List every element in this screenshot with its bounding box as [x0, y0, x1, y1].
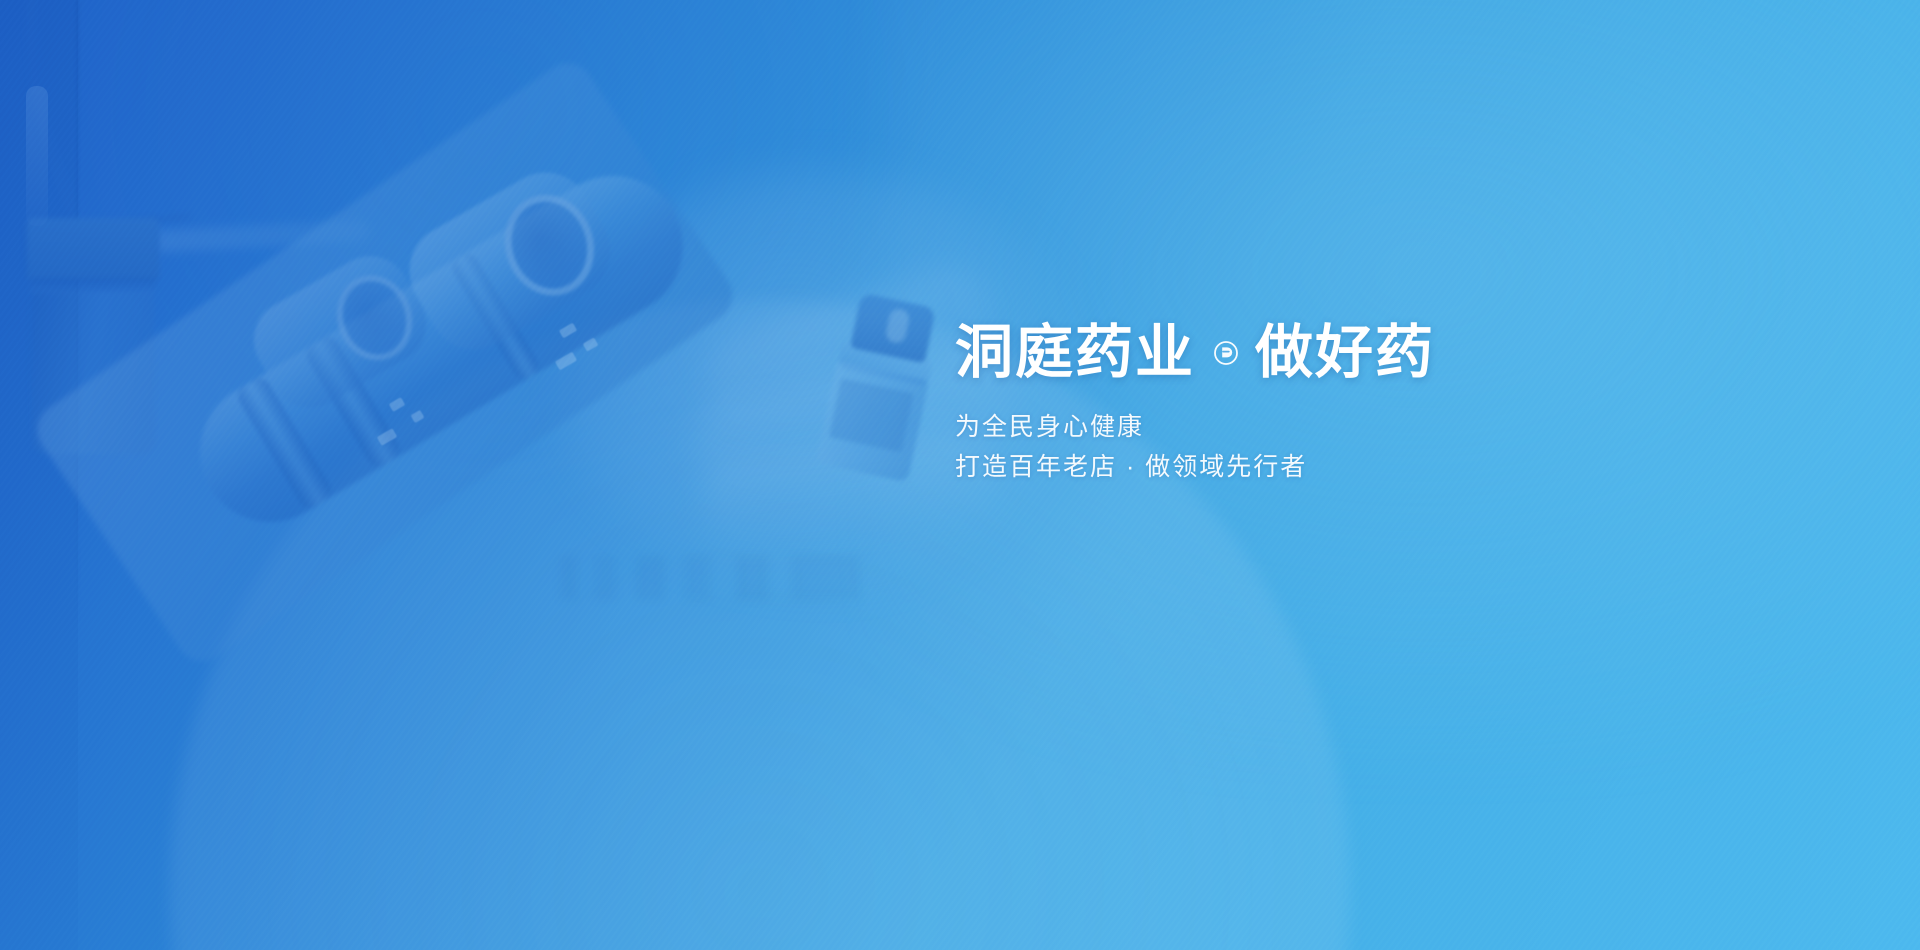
brand-slogan: 做好药: [1255, 322, 1435, 385]
hero-banner: 洞庭药业 做好药 为全民身心健康 打造百年老店 · 做领域先行者: [0, 0, 1920, 950]
hero-copy-block: 洞庭药业 做好药 为全民身心健康 打造百年老店 · 做领域先行者: [955, 322, 1655, 488]
company-name: 洞庭药业: [955, 322, 1195, 385]
hero-subcopy: 为全民身心健康 打造百年老店 · 做领域先行者: [955, 407, 1655, 488]
company-roundel-logo-icon: [1213, 340, 1239, 366]
subcopy-line-1: 为全民身心健康: [955, 407, 1655, 448]
subcopy-line-2: 打造百年老店 · 做领域先行者: [955, 447, 1655, 488]
hero-headline: 洞庭药业 做好药: [955, 322, 1655, 385]
